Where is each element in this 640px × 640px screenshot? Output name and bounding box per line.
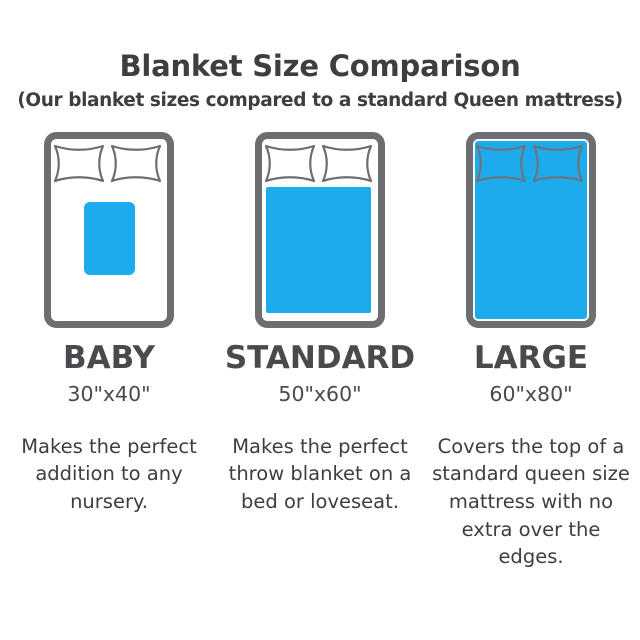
bed-with-blanket-icon — [44, 132, 174, 328]
size-name-large: LARGE — [474, 342, 588, 375]
page-subtitle: (Our blanket sizes compared to a standar… — [0, 89, 640, 112]
size-description-large: Covers the top of a standard queen size … — [432, 433, 630, 571]
pillow-right-icon — [323, 146, 371, 181]
size-dimensions-large: 60"x80" — [489, 383, 572, 406]
bed-diagram-large — [466, 132, 596, 328]
size-description-baby: Makes the perfect addition to any nurser… — [11, 433, 207, 516]
heading-block: Blanket Size Comparison (Our blanket siz… — [0, 0, 640, 112]
blanket-size-comparison-infographic: Blanket Size Comparison (Our blanket siz… — [0, 0, 640, 640]
page-title: Blanket Size Comparison — [0, 50, 640, 83]
pillow-right-icon — [112, 146, 160, 181]
bed-diagram-baby — [44, 132, 174, 328]
size-dimensions-baby: 30"x40" — [67, 383, 150, 406]
bed-diagram-standard — [255, 132, 385, 328]
pillow-left-icon — [266, 146, 314, 181]
bed-with-blanket-icon — [255, 132, 385, 328]
size-name-baby: BABY — [63, 342, 155, 375]
blanket-overlay-standard — [266, 187, 371, 313]
size-name-standard: STANDARD — [225, 342, 415, 375]
size-columns: BABY 30"x40" Makes the perfect addition … — [0, 132, 640, 571]
pillow-left-icon — [55, 146, 103, 181]
size-column-baby: BABY 30"x40" Makes the perfect addition … — [6, 132, 212, 571]
size-column-standard: STANDARD 50"x60" Makes the perfect throw… — [217, 132, 423, 571]
blanket-overlay-baby — [84, 202, 135, 275]
size-column-large: LARGE 60"x80" Covers the top of a standa… — [428, 132, 634, 571]
size-dimensions-standard: 50"x60" — [278, 383, 361, 406]
bed-with-blanket-icon — [466, 132, 596, 328]
size-description-standard: Makes the perfect throw blanket on a bed… — [220, 433, 420, 516]
blanket-overlay-large — [475, 141, 587, 319]
